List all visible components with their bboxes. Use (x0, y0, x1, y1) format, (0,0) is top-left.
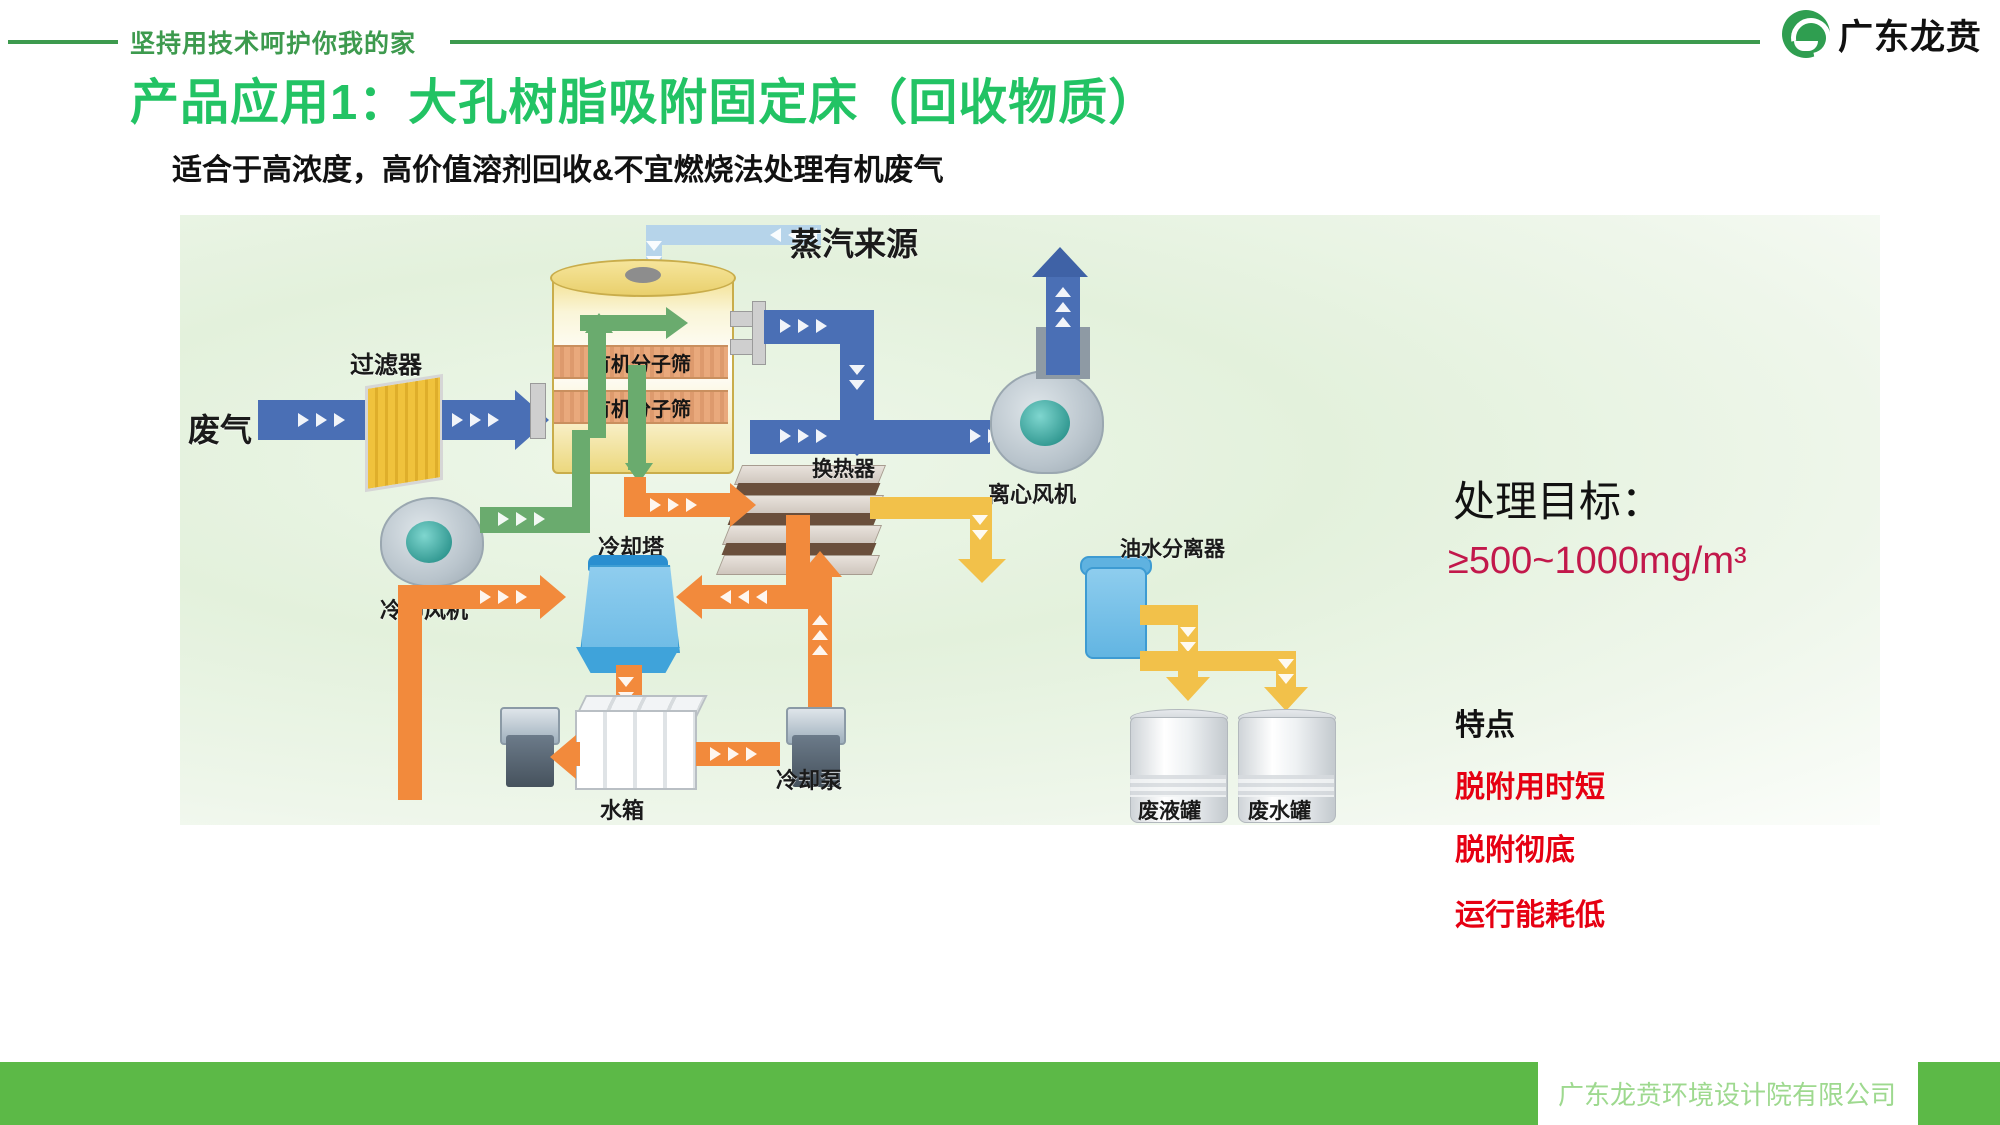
leaf-circle-icon (1782, 10, 1830, 58)
vessel-internal-arrow (666, 307, 688, 339)
hx-return-arrow (798, 551, 842, 577)
cooling-fan-chevrons (498, 512, 545, 526)
page-subtitle: 适合于高浓度，高价值溶剂回收&不宜燃烧法处理有机废气 (172, 145, 944, 189)
cooling-fan-riser (572, 430, 590, 530)
pump-left-duct (570, 742, 580, 766)
stack-chevrons (1055, 287, 1071, 327)
tower-return-chevrons (720, 590, 767, 604)
treatment-goal-value: ≥500~1000mg/m³ (1448, 540, 1747, 583)
filtered-gas-chevrons (452, 413, 499, 427)
outlet-duct-chevrons (780, 319, 827, 333)
cooling-fan-eye (406, 521, 452, 563)
vessel-steam-inlet (625, 267, 661, 283)
inlet-flange (530, 383, 546, 439)
company-logo: 广东龙贲 (1782, 8, 1992, 60)
separator-out-2-chevrons (1278, 659, 1294, 684)
label-cooling-pump: 冷却泵 (776, 763, 842, 795)
water-tank-body (575, 710, 697, 790)
waste-gas-chevrons (298, 413, 345, 427)
cooling-loop-left-riser (398, 585, 422, 800)
label-oil-water-separator: 油水分离器 (1120, 533, 1225, 563)
label-steam-source: 蒸汽来源 (790, 219, 918, 265)
separator-out-2 (1140, 651, 1296, 671)
label-waste-water-tank: 废水罐 (1248, 795, 1311, 825)
vessel-downcomer (628, 365, 646, 470)
features-title: 特点 (1455, 700, 1515, 744)
vessel-riser-arrow (585, 313, 613, 333)
feature-item-1: 脱附用时短 (1455, 762, 1605, 806)
pump-right-chevrons (710, 747, 757, 761)
label-water-tank: 水箱 (600, 793, 644, 825)
centrifugal-fan-eye (1020, 400, 1070, 446)
separator-out-1-chevrons (1180, 627, 1196, 652)
footer-company-name: 广东龙贲环境设计院有限公司 (1558, 1075, 1896, 1112)
vessel-riser (588, 333, 606, 438)
label-filter: 过滤器 (350, 345, 422, 380)
hx-condensate-chevrons (972, 515, 988, 540)
logo-text: 广东龙贲 (1838, 9, 1982, 60)
hx-feed-chevrons (650, 498, 697, 512)
oil-water-separator-body (1085, 567, 1147, 659)
hx-return-chevrons (812, 615, 828, 655)
label-heat-exchanger: 换热器 (812, 453, 875, 483)
header-rule-left (8, 40, 118, 44)
hx-feed-arrow (730, 483, 756, 527)
hx-condensate-arrow (958, 559, 1006, 583)
feature-item-3: 运行能耗低 (1455, 890, 1605, 934)
page-header: 坚持用技术呵护你我的家 广东龙贲 (0, 0, 2000, 62)
tower-return-arrow (676, 575, 702, 619)
label-centrifugal-fan: 离心风机 (988, 477, 1076, 509)
label-waste-liquid-tank: 废液罐 (1138, 795, 1201, 825)
cooling-loop-arrow (540, 575, 566, 619)
header-rule-right (450, 40, 1760, 44)
waste-water-tank-rings (1238, 775, 1334, 797)
separator-out-1-arrow (1166, 677, 1210, 701)
feature-item-2: 脱附彻底 (1455, 825, 1575, 869)
header-tagline: 坚持用技术呵护你我的家 (130, 24, 416, 60)
stack-arrow-head (1032, 247, 1088, 277)
separator-out-2-arrow (1264, 687, 1308, 711)
cooling-pump-left-motor (506, 735, 554, 787)
label-waste-gas: 废气 (188, 405, 252, 451)
cooling-tower-body (580, 565, 680, 653)
waste-liquid-tank-rings (1130, 775, 1226, 797)
fan-inlet-chevrons (780, 429, 827, 443)
treatment-goal-title: 处理目标： (1453, 468, 1663, 529)
outlet-duct-down-chevrons (849, 365, 865, 390)
cooling-loop-chevrons (480, 590, 527, 604)
filter-element (365, 374, 443, 492)
page-title: 产品应用1：大孔树脂吸附固定床（回收物质） (130, 63, 1158, 134)
